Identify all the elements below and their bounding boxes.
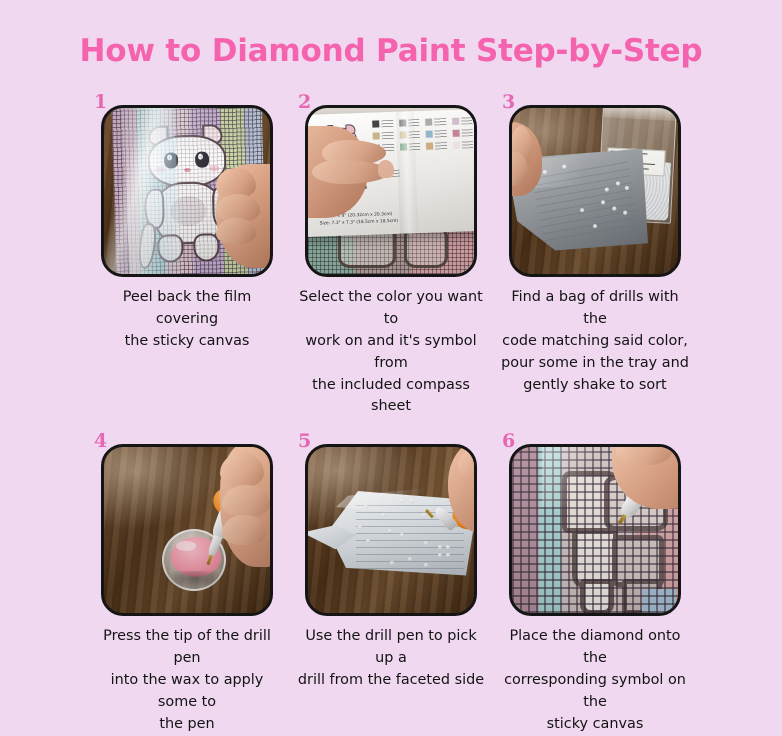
- step-number-5: 5: [298, 432, 311, 451]
- photo-peel-film-from-canvas: [101, 105, 273, 277]
- step-card-5: 5: [295, 434, 487, 735]
- photo-compass-sheet-color-symbol: Pastel Kitten Color Count: 0,084 Size Co…: [305, 105, 477, 277]
- step-caption-5: Use the drill pen to pick up a drill fro…: [295, 626, 487, 692]
- photo-drill-pen-in-wax: [101, 444, 273, 616]
- page-title: How to Diamond Paint Step-by-Step: [0, 0, 782, 69]
- step-number-3: 3: [502, 93, 515, 112]
- photo-placing-diamond-on-canvas: [509, 444, 681, 616]
- step-number-1: 1: [94, 93, 107, 112]
- steps-grid: 1: [0, 95, 782, 736]
- step-card-6: 6: [499, 434, 691, 735]
- steps-row-bottom: 4: [0, 434, 782, 735]
- step-caption-1: Peel back the film covering the sticky c…: [91, 287, 283, 353]
- step-caption-3: Find a bag of drills with the code match…: [499, 287, 691, 396]
- infographic-page: How to Diamond Paint Step-by-Step 1: [0, 0, 782, 702]
- photo-pen-picking-drill-from-tray: [305, 444, 477, 616]
- step-caption-4: Press the tip of the drill pen into the …: [91, 626, 283, 735]
- step-number-2: 2: [298, 93, 311, 112]
- step-caption-2: Select the color you want to work on and…: [295, 287, 487, 418]
- steps-row-top: 1: [0, 95, 782, 418]
- step-card-1: 1: [91, 95, 283, 418]
- step-number-4: 4: [94, 432, 107, 451]
- photo-bag-of-drills-and-tray: [509, 105, 681, 277]
- step-number-6: 6: [502, 432, 515, 451]
- step-card-4: 4: [91, 434, 283, 735]
- step-caption-6: Place the diamond onto the corresponding…: [499, 626, 691, 735]
- step-card-3: 3: [499, 95, 691, 418]
- step-card-2: 2: [295, 95, 487, 418]
